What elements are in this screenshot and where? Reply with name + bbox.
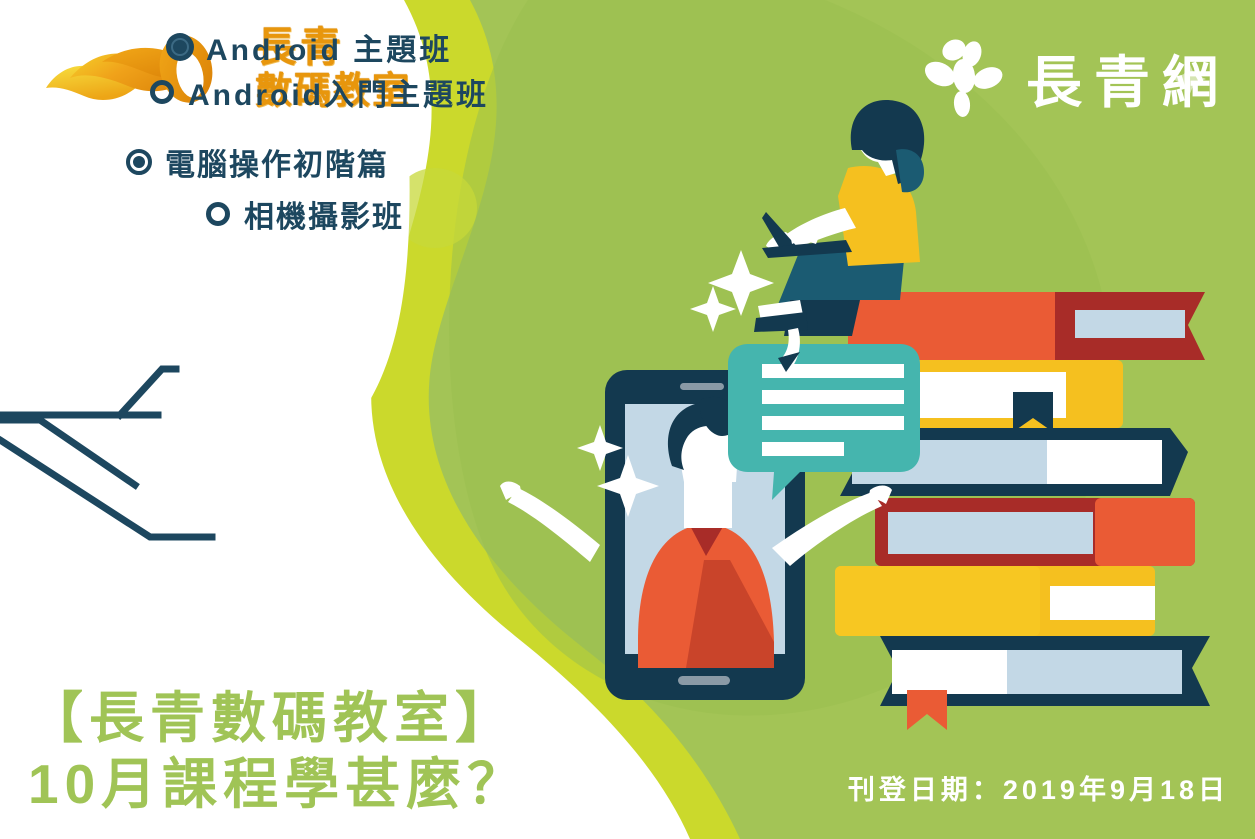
headline-line-1: 【長青數碼教室】: [28, 685, 648, 751]
headline-block: 【長青數碼教室】 10月課程學甚麼？: [28, 685, 648, 817]
course-item-4[interactable]: 相機攝影班: [203, 192, 404, 236]
site-name: 長青網: [1026, 38, 1230, 119]
connector-lines: [0, 369, 212, 537]
hollow-circle-bullet-icon: [203, 199, 233, 229]
course-label-4: 相機攝影班: [244, 192, 404, 236]
course-list: Android 主題班 Android入門主題班 電腦操作初階篇 相機攝影班: [0, 0, 520, 240]
course-item-2[interactable]: Android入門主題班: [147, 70, 489, 114]
headline-line-2: 10月課程學甚麼？: [28, 751, 648, 817]
filled-ring-bullet-icon: [165, 32, 195, 62]
publish-date: 刊登日期：2019年9月18日: [848, 768, 1229, 807]
course-label-2: Android入門主題班: [188, 70, 489, 114]
hollow-circle-bullet-icon: [147, 77, 177, 107]
ring-dot-bullet-icon: [124, 147, 154, 177]
course-label-3: 電腦操作初階篇: [165, 140, 389, 184]
course-item-3[interactable]: 電腦操作初階篇: [124, 140, 389, 184]
course-label-1: Android 主題班: [206, 25, 452, 69]
promo-banner: 長青 數碼教室 長青網 Android 主題班: [0, 0, 1255, 839]
white-flower-leaf-icon: [920, 34, 1012, 122]
course-item-1[interactable]: Android 主題班: [165, 25, 452, 69]
site-logo[interactable]: 長青網: [920, 32, 1230, 124]
